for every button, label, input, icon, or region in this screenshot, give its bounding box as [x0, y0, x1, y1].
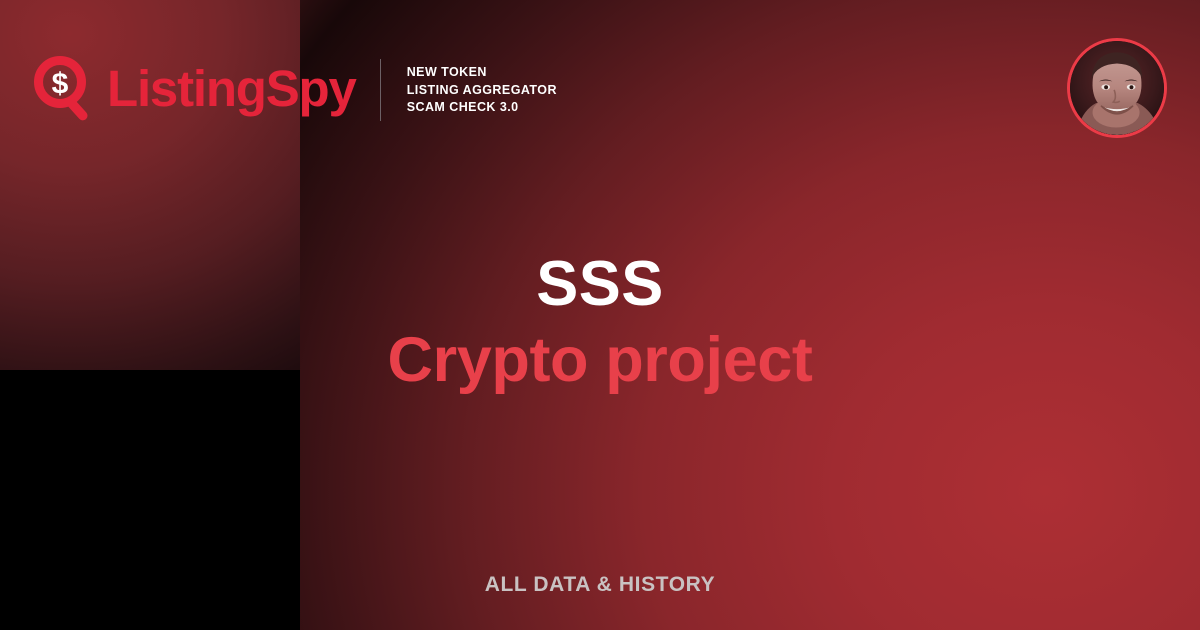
token-symbol: SSS — [0, 252, 1200, 316]
brand-tagline: NEW TOKEN LISTING AGGREGATOR SCAM CHECK … — [407, 65, 557, 115]
header-divider — [380, 59, 381, 121]
token-kind: Crypto project — [0, 327, 1200, 393]
brand-logo[interactable]: $ ListingSpy — [34, 56, 356, 124]
tagline-line-3: SCAM CHECK 3.0 — [407, 100, 557, 115]
magnifier-dollar-icon: $ — [34, 56, 96, 124]
header: $ ListingSpy NEW TOKEN LISTING AGGREGATO… — [34, 48, 557, 132]
avatar[interactable] — [1067, 38, 1167, 138]
brand-name: ListingSpy — [107, 63, 356, 118]
tagline-line-1: NEW TOKEN — [407, 65, 557, 80]
main-content: SSS Crypto project — [0, 252, 1200, 393]
svg-text:$: $ — [52, 68, 69, 101]
footer: ALL DATA & HISTORY — [0, 573, 1200, 597]
tagline-line-2: LISTING AGGREGATOR — [407, 83, 557, 98]
footer-caption: ALL DATA & HISTORY — [0, 573, 1200, 597]
avatar-photo-icon — [1070, 41, 1164, 135]
